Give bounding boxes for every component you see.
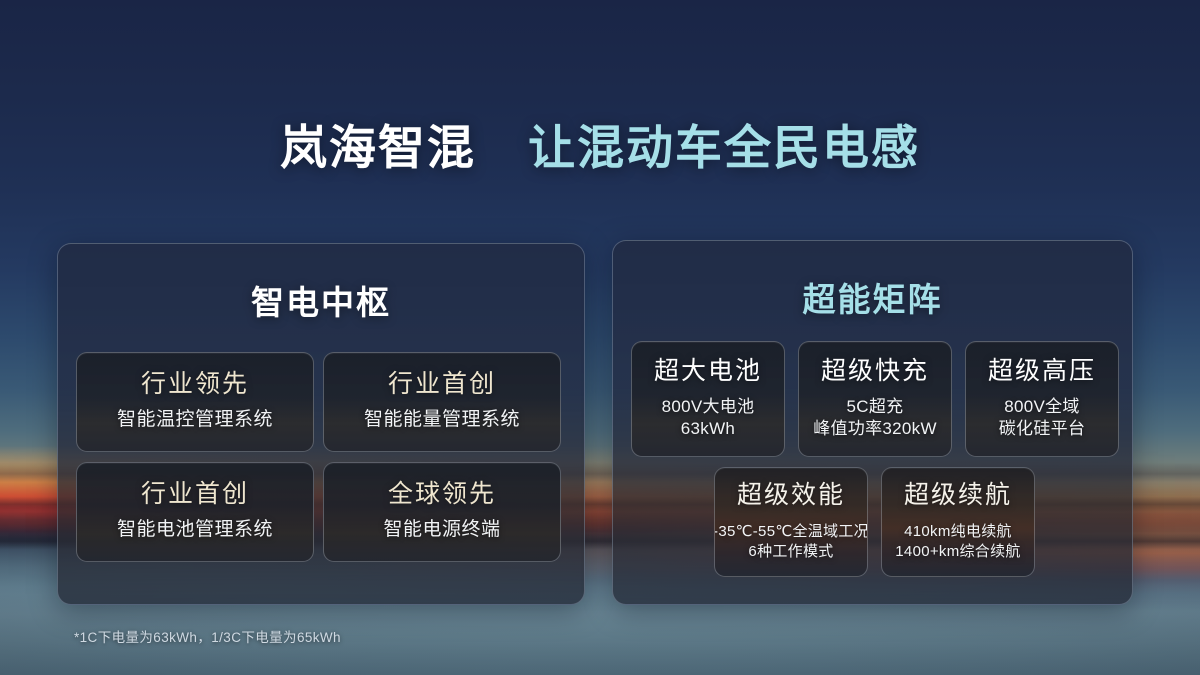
panel-left-title: 智电中枢 — [58, 286, 584, 319]
card-heading: 超级高压 — [988, 359, 1096, 384]
slide-canvas: 岚海智混 让混动车全民电感 智电中枢 行业领先 智能温控管理系统 行业首创 智能… — [0, 0, 1200, 675]
footnote-disclaimer: *1C下电量为63kWh，1/3C下电量为65kWh — [74, 626, 341, 646]
card-subtitle-1: -35℃-55℃全温域工况 — [714, 522, 868, 541]
card-heading: 超大电池 — [654, 359, 762, 384]
card-subtitle-2: 1400+km综合续航 — [895, 542, 1020, 561]
card-subtitle: 智能温控管理系统 — [117, 408, 273, 432]
card-industry-first-energy[interactable]: 行业首创 智能能量管理系统 — [323, 352, 561, 452]
card-industry-first-battery[interactable]: 行业首创 智能电池管理系统 — [76, 462, 314, 562]
card-heading: 超级效能 — [737, 483, 845, 508]
card-heading: 行业首创 — [141, 482, 249, 507]
card-super-efficiency[interactable]: 超级效能 -35℃-55℃全温域工况 6种工作模式 — [714, 467, 868, 577]
slide-headline: 岚海智混 让混动车全民电感 — [0, 124, 1200, 171]
card-heading: 超级续航 — [904, 483, 1012, 508]
panel-right-title: 超能矩阵 — [613, 283, 1132, 316]
card-heading: 行业领先 — [141, 372, 249, 397]
card-subtitle: 智能电源终端 — [383, 518, 500, 542]
card-heading: 超级快充 — [821, 359, 929, 384]
card-subtitle-2: 63kWh — [681, 418, 735, 440]
card-subtitle: 智能能量管理系统 — [364, 408, 520, 432]
card-heading: 全球领先 — [388, 482, 496, 507]
card-heading: 行业首创 — [388, 372, 496, 397]
panel-super-matrix: 超能矩阵 超大电池 800V大电池 63kWh 超级快充 5C超充 峰值功率32… — [612, 240, 1133, 605]
card-subtitle: 智能电池管理系统 — [117, 518, 273, 542]
card-subtitle-2: 碳化硅平台 — [999, 418, 1086, 440]
panel-smart-electric-hub: 智电中枢 行业领先 智能温控管理系统 行业首创 智能能量管理系统 行业首创 智能… — [57, 243, 585, 605]
card-mega-battery[interactable]: 超大电池 800V大电池 63kWh — [631, 341, 785, 457]
card-global-leading-power-terminal[interactable]: 全球领先 智能电源终端 — [323, 462, 561, 562]
card-subtitle-1: 5C超充 — [847, 396, 904, 418]
card-subtitle-1: 800V全域 — [1004, 396, 1080, 418]
card-super-fast-charging[interactable]: 超级快充 5C超充 峰值功率320kW — [798, 341, 952, 457]
card-subtitle-1: 800V大电池 — [662, 396, 755, 418]
card-subtitle-2: 6种工作模式 — [748, 542, 833, 561]
card-super-high-voltage[interactable]: 超级高压 800V全域 碳化硅平台 — [965, 341, 1119, 457]
headline-brand-text: 岚海智混 — [280, 121, 476, 174]
card-super-range[interactable]: 超级续航 410km纯电续航 1400+km综合续航 — [881, 467, 1035, 577]
card-industry-leading-thermal[interactable]: 行业领先 智能温控管理系统 — [76, 352, 314, 452]
card-subtitle-1: 410km纯电续航 — [904, 522, 1012, 541]
card-subtitle-2: 峰值功率320kW — [813, 418, 937, 440]
headline-tagline-text: 让混动车全民电感 — [528, 121, 920, 174]
